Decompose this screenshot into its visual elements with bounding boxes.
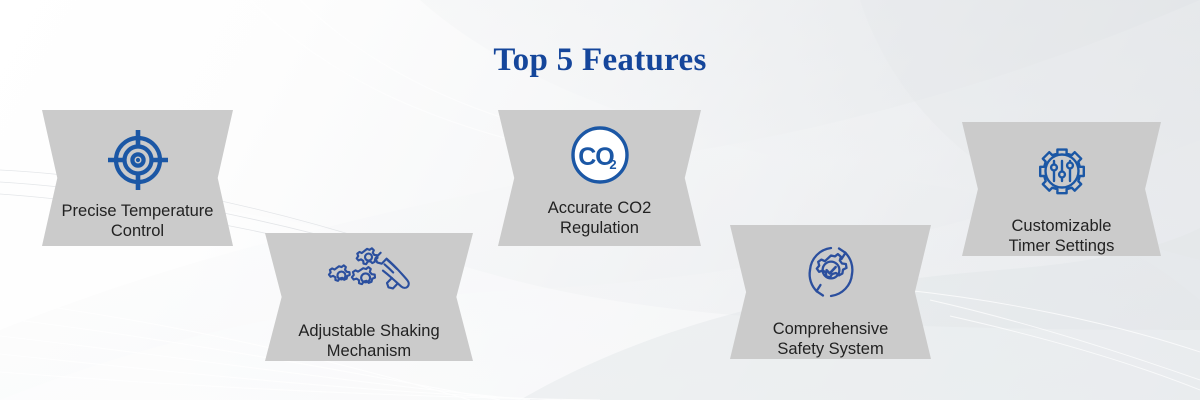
gears-wrench-icon <box>323 245 415 305</box>
gear-check-rotation-icon <box>798 239 864 305</box>
feature-card-adjustable-shaking-mechanism[interactable]: Adjustable Shaking Mechanism <box>265 233 473 361</box>
feature-label: Precise Temperature Control <box>48 201 228 241</box>
feature-label: Accurate CO2 Regulation <box>534 198 666 238</box>
feature-card-customizable-timer-settings[interactable]: Customizable Timer Settings <box>962 122 1161 256</box>
svg-text:2: 2 <box>609 157 616 172</box>
page-title: Top 5 Features <box>0 42 1200 79</box>
feature-label: Customizable Timer Settings <box>995 216 1129 256</box>
features-banner: Top 5 Features Precise Temperature Contr… <box>0 0 1200 400</box>
feature-label: Adjustable Shaking Mechanism <box>284 321 453 361</box>
feature-card-comprehensive-safety-system[interactable]: Comprehensive Safety System <box>730 225 931 359</box>
feature-card-accurate-co2-regulation[interactable]: CO 2 Accurate CO2 Regulation <box>498 110 701 246</box>
co2-circle-icon: CO 2 <box>569 124 631 186</box>
feature-card-precise-temperature-control[interactable]: Precise Temperature Control <box>42 110 233 246</box>
gear-sliders-icon <box>1029 138 1095 204</box>
feature-label: Comprehensive Safety System <box>759 319 903 359</box>
crosshair-target-icon <box>106 128 170 192</box>
